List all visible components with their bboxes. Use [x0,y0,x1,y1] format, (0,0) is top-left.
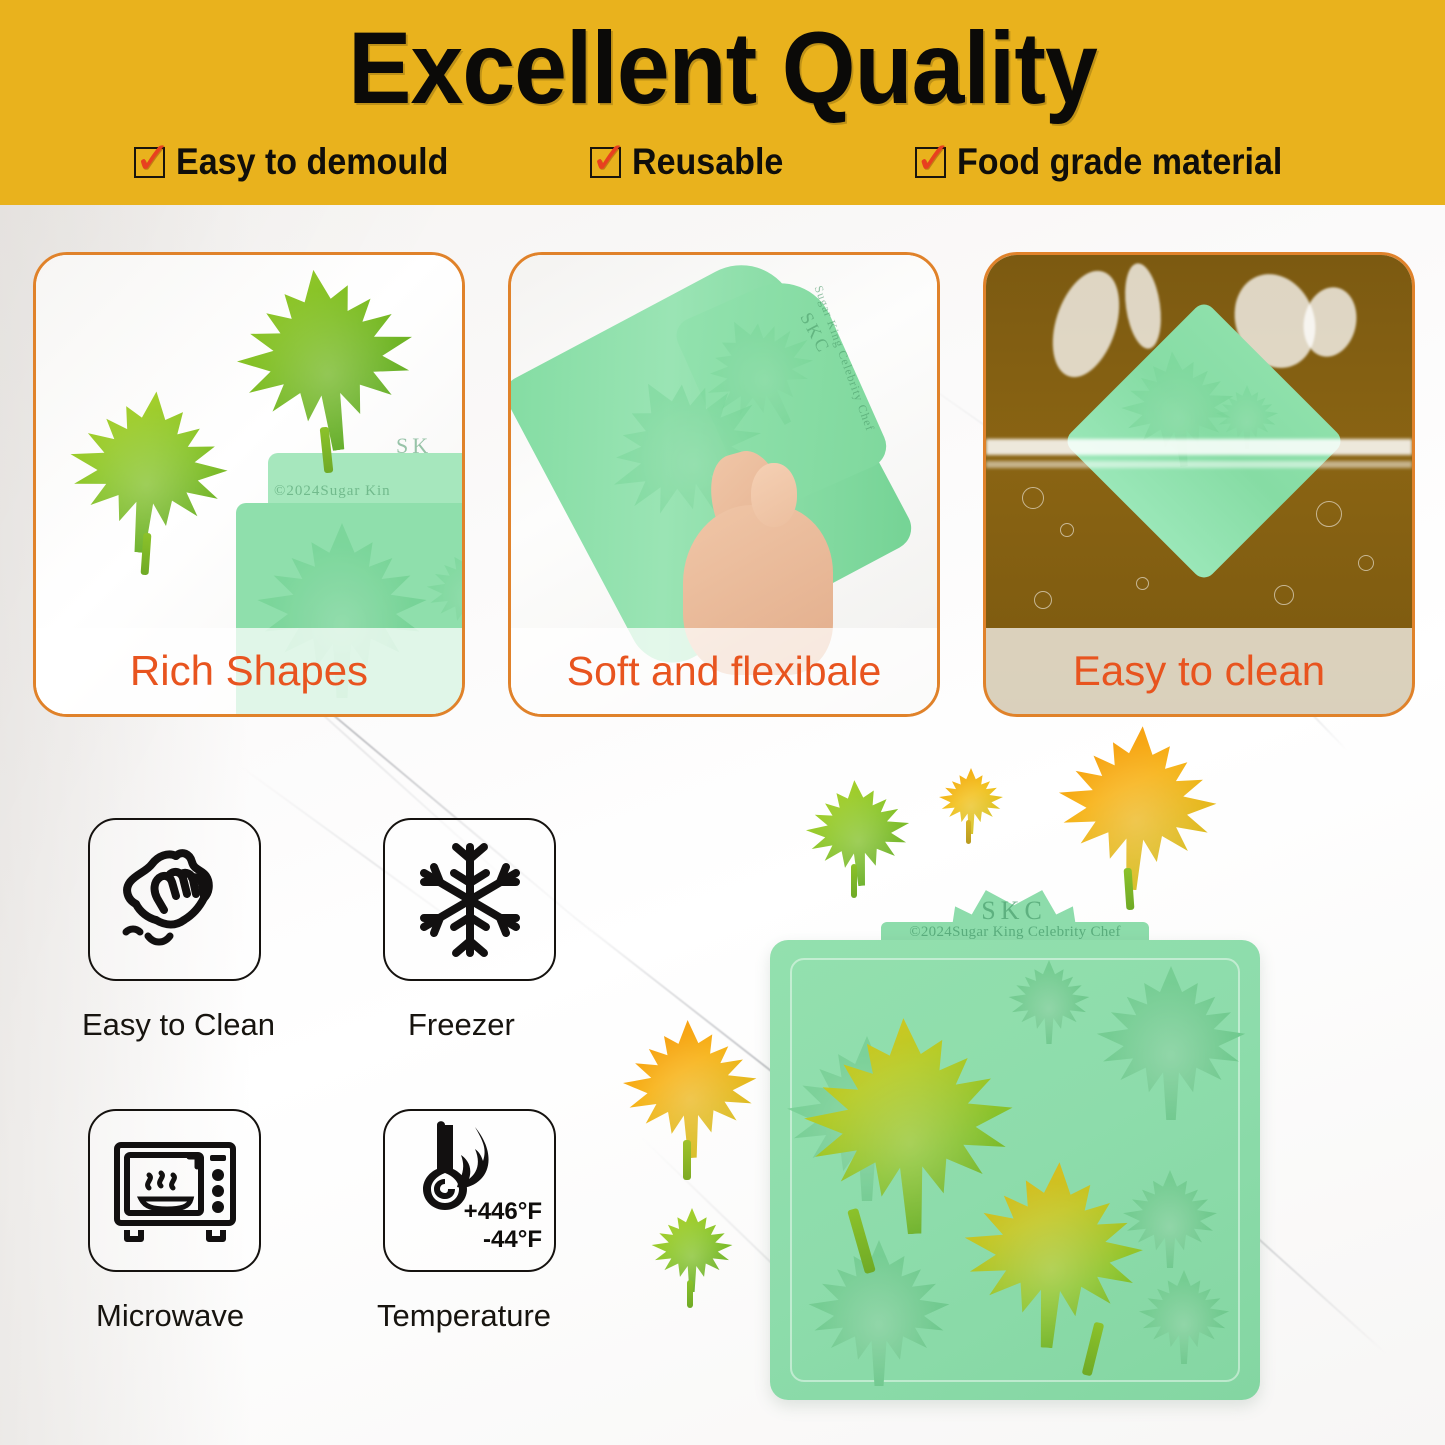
product-photo: SKC ©2024Sugar King Celebrity Chef [595,700,1445,1445]
card-caption-text: Easy to clean [1073,648,1325,694]
silicone-mold-slab [770,940,1260,1400]
molded-leaf-small-green [799,776,916,889]
molded-leaf-large-orange [1047,720,1226,895]
molded-leaf-small-green-2 [649,1208,735,1292]
feature-icon-easy-to-clean: Easy to Clean [88,818,263,1043]
snowflake-icon [414,841,526,959]
feature-card-soft-flexible[interactable]: SKC Sugar King Celebrity Chef Soft and f… [508,252,940,717]
checkbox-checked-icon: ✓ [590,147,621,178]
icon-box [88,1109,261,1272]
header-banner: Excellent Quality ✓ Easy to demould ✓ Re… [0,0,1445,205]
header-feature-label: Easy to demould [176,142,448,182]
molded-leaf-medium-orange [617,1018,764,1161]
feature-card-easy-clean[interactable]: Easy to clean [983,252,1415,717]
header-feature-label: Reusable [632,142,783,182]
card-caption: Rich Shapes [36,628,462,714]
temperature-range: +446°F -44°F [464,1198,542,1254]
checkbox-checked-icon: ✓ [915,147,946,178]
feature-icon-freezer: Freezer [383,818,558,1043]
header-feature-item: ✓ Reusable [590,142,797,182]
mold-brand-mark: SKC [950,896,1078,926]
icon-box [88,818,261,981]
icon-box: +446°F -44°F [383,1109,556,1272]
header-feature-list: ✓ Easy to demould ✓ Reusable ✓ Food grad… [0,132,1445,192]
icon-label: Microwave [96,1298,263,1334]
microwave-oven-icon [111,1135,239,1247]
header-feature-item: ✓ Easy to demould [134,142,472,182]
temperature-low: -44°F [464,1226,542,1254]
header-feature-item: ✓ Food grade material [915,142,1311,182]
card-caption-text: Soft and flexibale [567,648,882,694]
header-feature-label: Food grade material [957,142,1282,182]
feature-icon-temperature: +446°F -44°F Temperature [383,1109,558,1334]
temperature-high: +446°F [464,1198,542,1226]
molded-leaf-mini-yellow [937,768,1005,834]
hand-wiping-cloth-icon [114,844,236,956]
feature-card-rich-shapes[interactable]: ©2024Sugar Kin SK Rich Shapes [33,252,465,717]
feature-card-row: ©2024Sugar Kin SK Rich Shapes [0,252,1445,724]
icon-box [383,818,556,981]
icon-label: Easy to Clean [82,1007,263,1043]
card-caption-text: Rich Shapes [130,648,368,694]
mold-copyright-text: ©2024Sugar King Celebrity Chef [881,924,1149,941]
page-title: Excellent Quality [51,14,1395,122]
icon-label: Freezer [408,1007,558,1043]
checkbox-checked-icon: ✓ [134,147,165,178]
feature-icon-microwave: Microwave [88,1109,263,1334]
icon-label: Temperature [377,1298,558,1334]
product-infographic: Excellent Quality ✓ Easy to demould ✓ Re… [0,0,1445,1445]
